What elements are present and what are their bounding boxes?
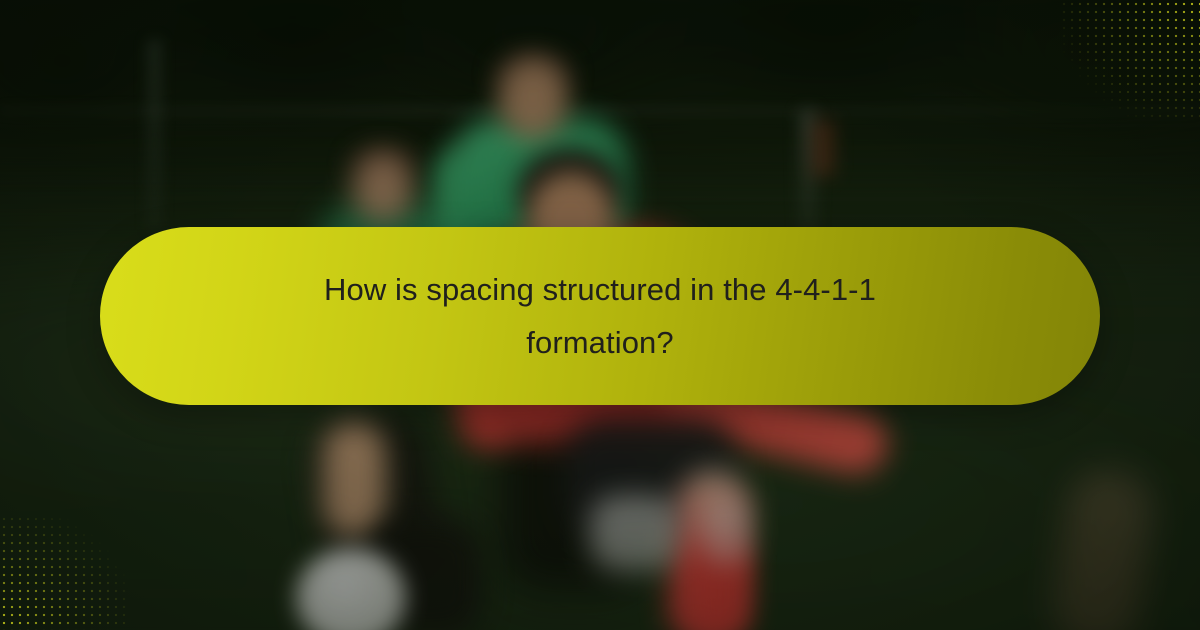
page-title: How is spacing structured in the 4-4-1-1… [250, 263, 950, 369]
social-card-canvas: How is spacing structured in the 4-4-1-1… [0, 0, 1200, 630]
question-card: How is spacing structured in the 4-4-1-1… [100, 227, 1100, 405]
